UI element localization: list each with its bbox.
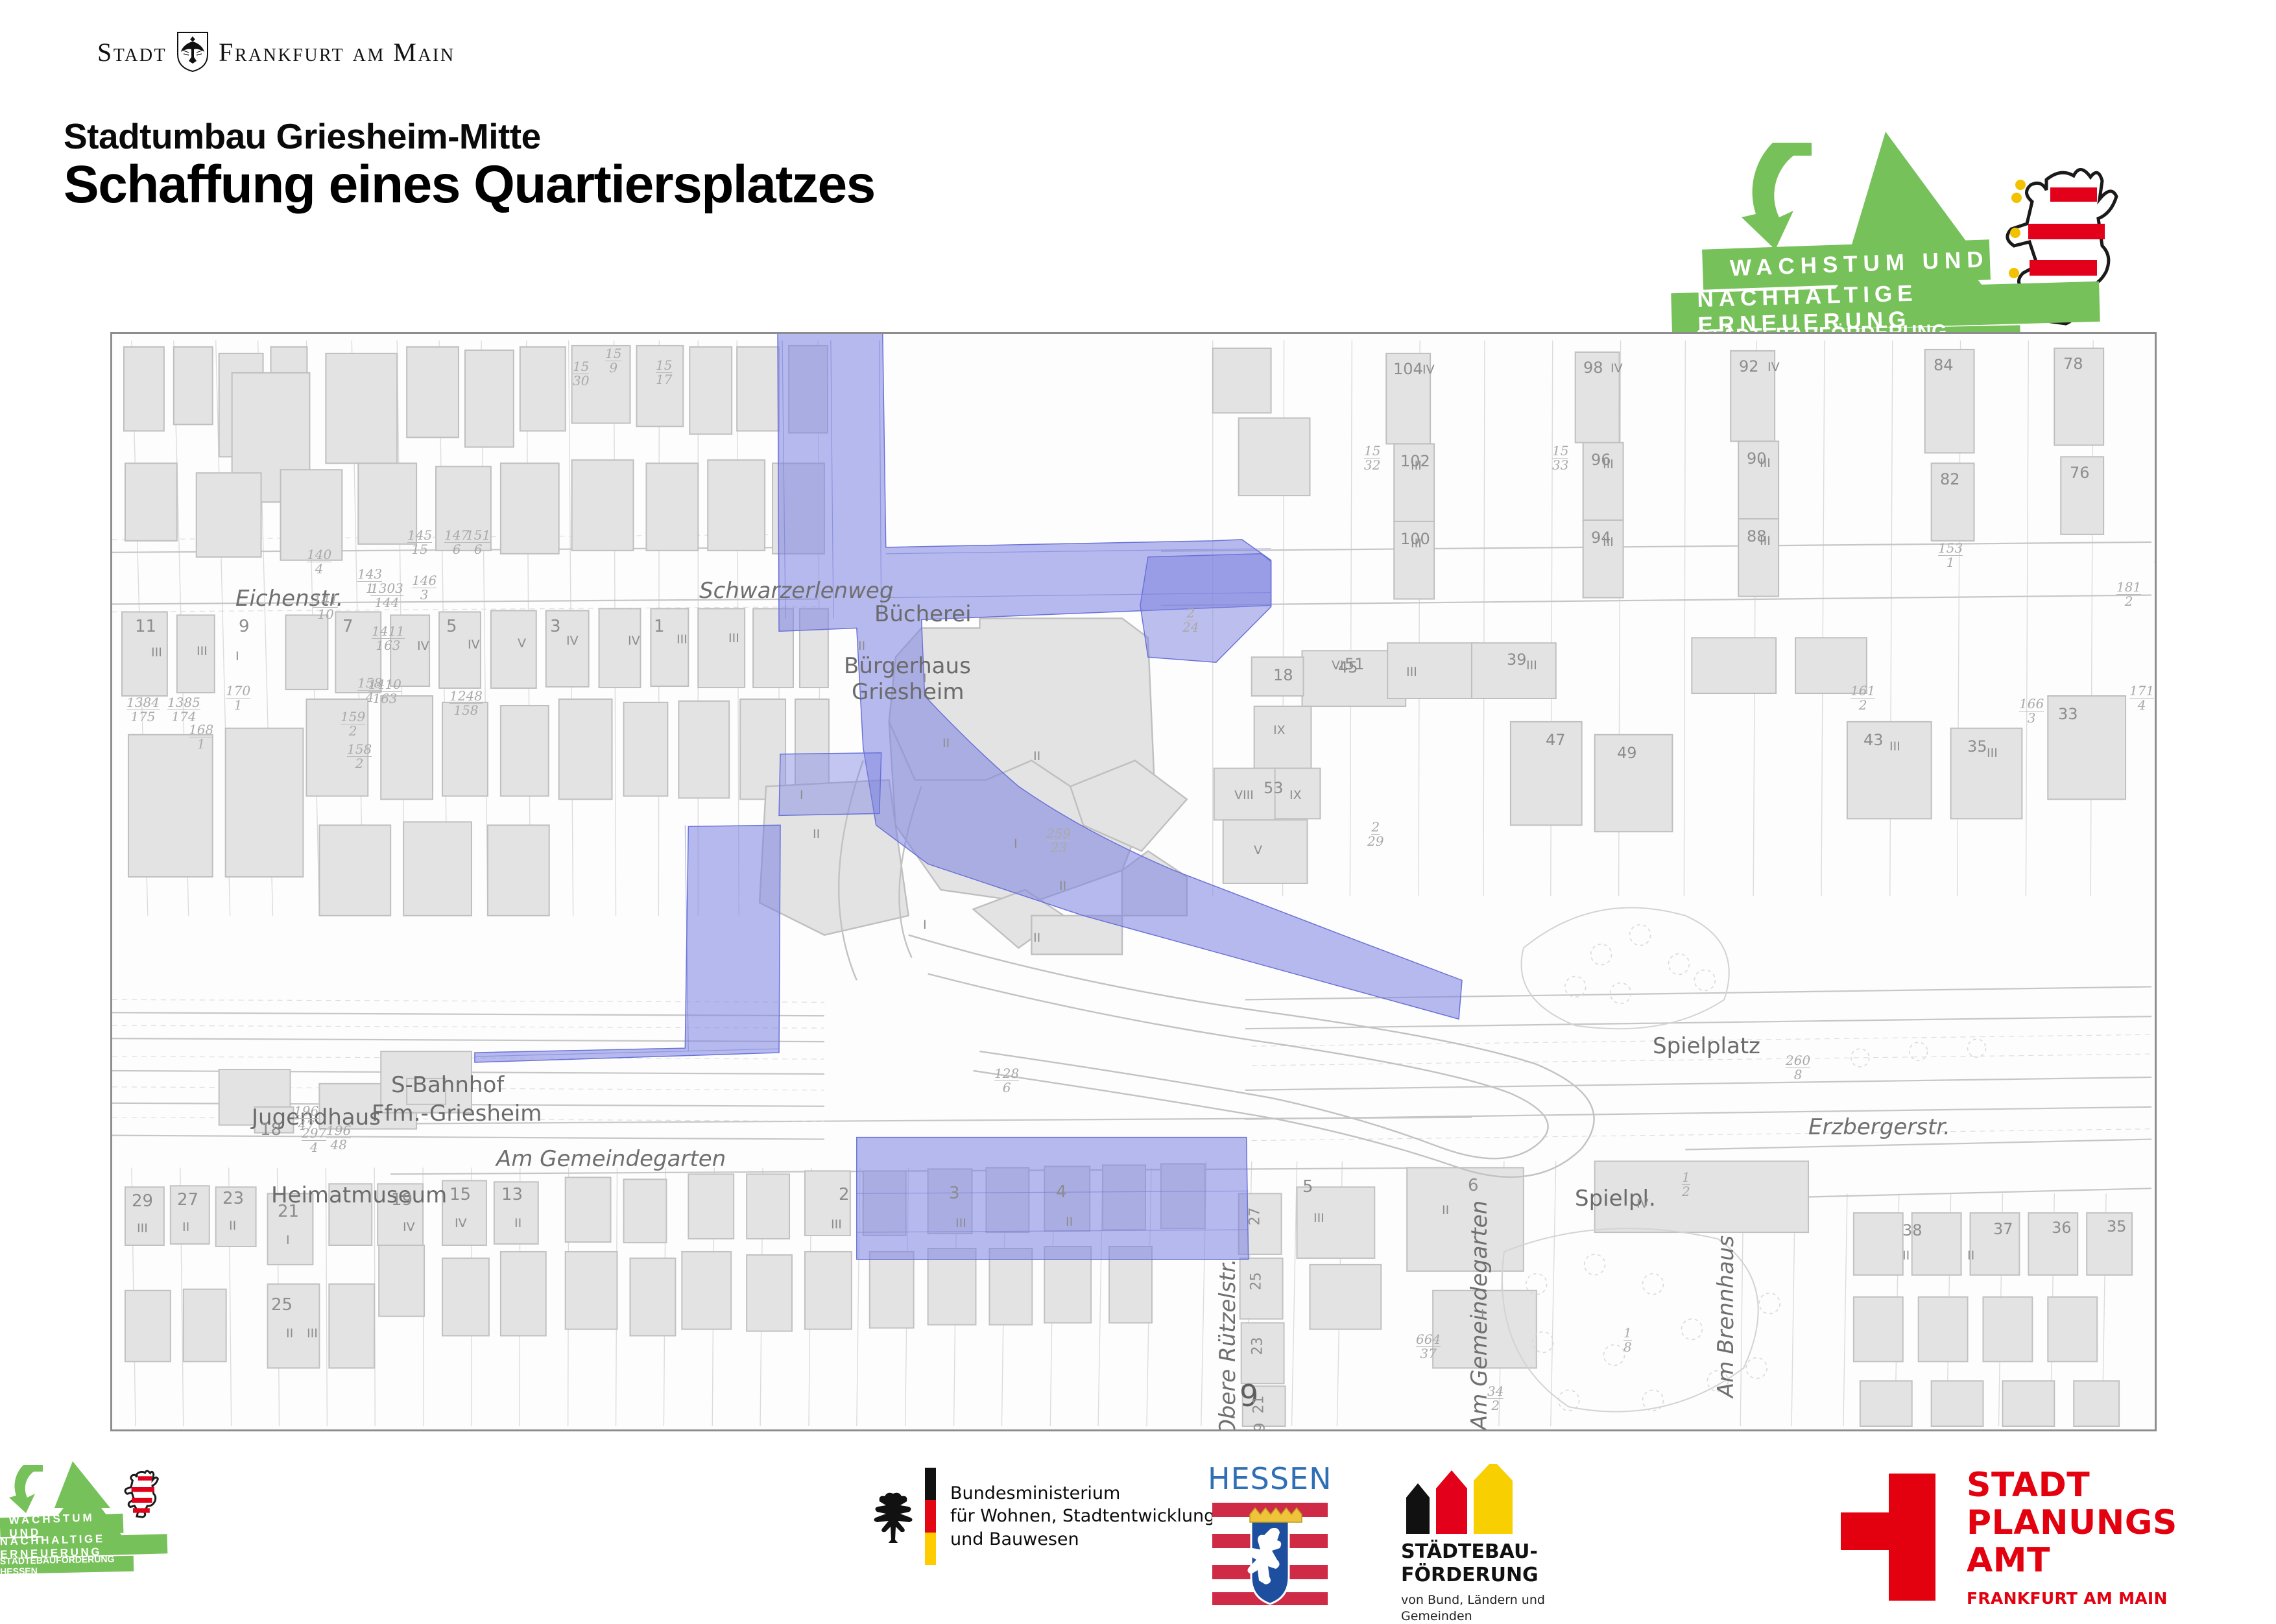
bmwsb-line1: Bundesministerium xyxy=(950,1482,1215,1505)
staedtebau-sub2: Gemeinden xyxy=(1401,1608,1545,1624)
bmwsb-line2: für Wohnen, Stadtentwicklung xyxy=(950,1505,1215,1528)
bmwsb-logo: Bundesministerium für Wohnen, Stadtentwi… xyxy=(869,1468,1215,1565)
bmwsb-line3: und Bauwesen xyxy=(950,1528,1215,1551)
spa-line1: STADT xyxy=(1967,1466,2177,1504)
three-houses-icon xyxy=(1401,1464,1519,1534)
german-flag-bar xyxy=(925,1468,936,1565)
frankfurt-eagle-shield-icon xyxy=(176,31,210,73)
map-canvas xyxy=(112,334,2155,1429)
bmwsb-text: Bundesministerium für Wohnen, Stadtentwi… xyxy=(950,1482,1215,1551)
hessen-title: HESSEN xyxy=(1208,1461,1332,1496)
staedtebau-line2: FÖRDERUNG xyxy=(1401,1564,1539,1587)
spa-line3: AMT xyxy=(1967,1542,2177,1579)
footer-wachstum-logo: WACHSTUM UND NACHHALTIGE ERNEUERUNG STÄD… xyxy=(0,1456,195,1579)
hessen-lion-icon xyxy=(125,1471,158,1517)
spa-line2: PLANUNGS xyxy=(1967,1504,2177,1542)
city-logo: Stadt Frankfurt am Main xyxy=(97,31,455,73)
staedtebaufoerderung-logo: STÄDTEBAU- FÖRDERUNG von Bund, Ländern u… xyxy=(1401,1464,1545,1624)
city-logo-text-left: Stadt xyxy=(97,37,167,67)
city-logo-text-right: Frankfurt am Main xyxy=(219,37,455,67)
hessen-coat-of-arms-icon xyxy=(1212,1500,1328,1606)
stadtplanungsamt-text: STADT PLANUNGS AMT FRANKFURT AM MAIN xyxy=(1967,1466,2177,1608)
page-header: Stadt Frankfurt am Main Stadtumbau Gries… xyxy=(0,0,2276,324)
staedtebau-title: STÄDTEBAU- FÖRDERUNG xyxy=(1401,1540,1539,1587)
page-subtitle: Stadtumbau Griesheim-Mitte xyxy=(64,115,541,157)
staedtebau-sub1: von Bund, Ländern und xyxy=(1401,1592,1545,1608)
staedtebau-line1: STÄDTEBAU- xyxy=(1401,1540,1539,1564)
spa-line4: FRANKFURT AM MAIN xyxy=(1967,1589,2177,1608)
footer-wachstum-band-line3: STÄDTEBAUFÖRDERUNG HESSEN xyxy=(0,1556,134,1575)
page-footer: Bundesministerium für Wohnen, Stadtentwi… xyxy=(0,1456,2276,1608)
stadtplanungsamt-logo: STADT PLANUNGS AMT FRANKFURT AM MAIN xyxy=(1841,1466,2177,1608)
hessen-logo: HESSEN xyxy=(1208,1461,1332,1606)
cadastral-map[interactable]: Eichenstr. Schwarzerlenweg Erzbergerstr.… xyxy=(110,332,2157,1431)
federal-eagle-icon xyxy=(869,1490,917,1543)
page-title: Schaffung eines Quartiersplatzes xyxy=(64,154,875,215)
frankfurt-f-mark-icon xyxy=(1841,1474,1939,1601)
